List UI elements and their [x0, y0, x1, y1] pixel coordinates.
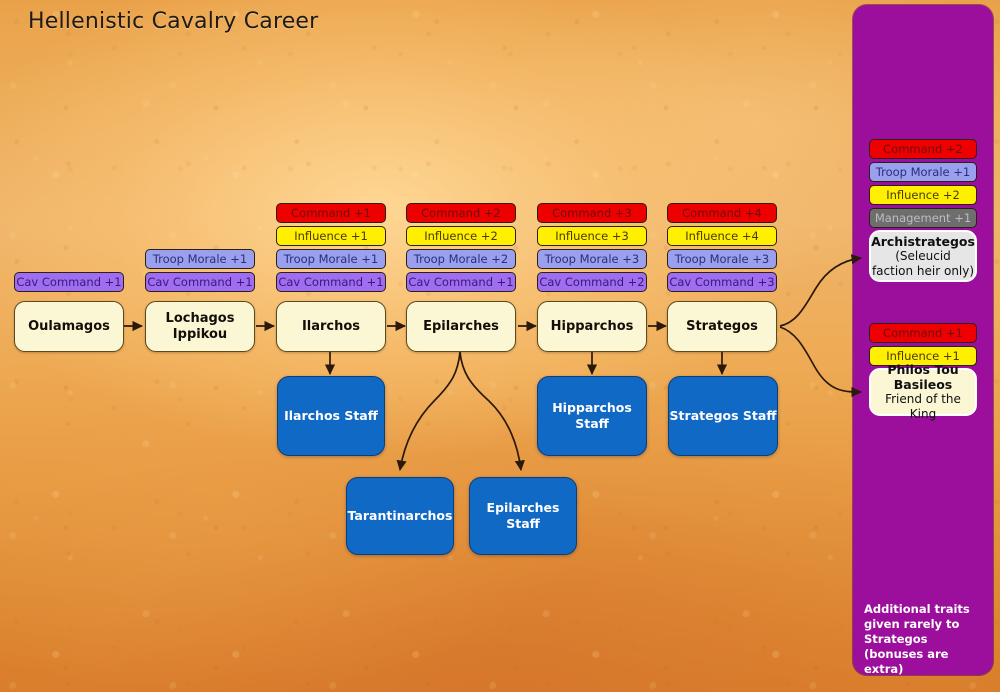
trait-chip-cav_command: Cav Command +1 [276, 272, 386, 292]
staff-box-label: Strategos Staff [670, 408, 777, 424]
trait-chip-command: Command +1 [276, 203, 386, 223]
panel-note-line-4: (bonuses are extra) [864, 647, 986, 677]
special-trait-chip-management: Management +1 [869, 208, 977, 228]
trait-chip-command: Command +2 [406, 203, 516, 223]
special-trait-chip-command: Command +2 [869, 139, 977, 159]
special-title-line-2: Basileos [875, 377, 971, 392]
rank-label: Epilarches [423, 319, 499, 335]
diagram-canvas: Hellenistic Cavalry Career [0, 0, 1000, 692]
trait-chip-troop_morale: Troop Morale +3 [667, 249, 777, 269]
staff-box-tarantinarchos[interactable]: Tarantinarchos [346, 477, 454, 555]
special-trait-box-archistrategos[interactable]: Archistrategos(Seleucidfaction heir only… [869, 230, 977, 282]
special-subtitle-2: faction heir only) [871, 264, 975, 279]
special-subtitle-1: Friend of the King [875, 392, 971, 422]
special-title-line-1: Philos Tou [875, 362, 971, 377]
panel-note-line-3: Strategos [864, 632, 986, 647]
rank-box-oulamagos[interactable]: Oulamagos [14, 301, 124, 352]
trait-chip-troop_morale: Troop Morale +3 [537, 249, 647, 269]
trait-chip-influence: Influence +1 [276, 226, 386, 246]
rank-box-hipparchos[interactable]: Hipparchos [537, 301, 647, 352]
panel-note-line-2: given rarely to [864, 617, 986, 632]
staff-box-label: Epilarches Staff [470, 500, 576, 532]
trait-chip-troop_morale: Troop Morale +1 [276, 249, 386, 269]
special-trait-chip-troop_morale: Troop Morale +1 [869, 162, 977, 182]
rank-box-ilarchos[interactable]: Ilarchos [276, 301, 386, 352]
panel-note-line-1: Additional traits [864, 602, 986, 617]
trait-chip-influence: Influence +2 [406, 226, 516, 246]
trait-chip-troop_morale: Troop Morale +2 [406, 249, 516, 269]
special-title: Archistrategos [871, 234, 975, 249]
trait-chip-cav_command: Cav Command +3 [667, 272, 777, 292]
trait-chip-cav_command: Cav Command +2 [537, 272, 647, 292]
trait-chip-influence: Influence +4 [667, 226, 777, 246]
staff-box-label: Hipparchos Staff [538, 400, 646, 432]
special-trait-chip-command: Command +1 [869, 323, 977, 343]
trait-chip-command: Command +3 [537, 203, 647, 223]
trait-chip-cav_command: Cav Command +1 [14, 272, 124, 292]
staff-box-label: Ilarchos Staff [284, 408, 378, 424]
page-title: Hellenistic Cavalry Career [28, 9, 318, 34]
rank-label: Hipparchos [551, 319, 634, 335]
staff-box-label: Tarantinarchos [348, 508, 453, 524]
staff-box-ilarchos-staff[interactable]: Ilarchos Staff [277, 376, 385, 456]
trait-chip-command: Command +4 [667, 203, 777, 223]
rank-box-strategos[interactable]: Strategos [667, 301, 777, 352]
trait-chip-cav_command: Cav Command +1 [406, 272, 516, 292]
special-subtitle-1: (Seleucid [871, 249, 975, 264]
rank-label: Oulamagos [28, 319, 110, 335]
staff-box-hipparchos-staff[interactable]: Hipparchos Staff [537, 376, 647, 456]
trait-chip-cav_command: Cav Command +1 [145, 272, 255, 292]
staff-box-strategos-staff[interactable]: Strategos Staff [668, 376, 778, 456]
special-trait-box-philos-tou[interactable]: Philos TouBasileosFriend of the King [869, 368, 977, 416]
trait-chip-influence: Influence +3 [537, 226, 647, 246]
rank-label: Strategos [686, 319, 758, 335]
rank-label-line-1: Lochagos [166, 311, 235, 327]
special-trait-chip-influence: Influence +2 [869, 185, 977, 205]
staff-box-epilarches-staff[interactable]: Epilarches Staff [469, 477, 577, 555]
rank-box-lochagos[interactable]: LochagosIppikou [145, 301, 255, 352]
panel-note: Additional traits given rarely to Strate… [864, 602, 986, 677]
trait-chip-troop_morale: Troop Morale +1 [145, 249, 255, 269]
rank-label: Ilarchos [302, 319, 360, 335]
rank-label-line-2: Ippikou [166, 327, 235, 343]
rank-box-epilarches[interactable]: Epilarches [406, 301, 516, 352]
